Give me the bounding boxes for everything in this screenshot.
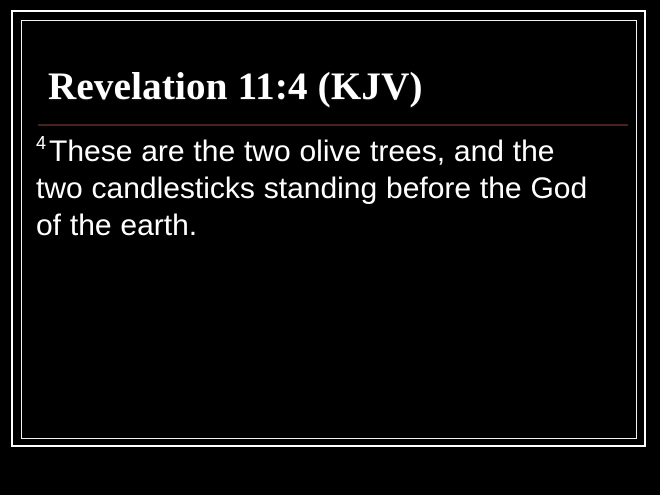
- verse-paragraph: 4These are the two olive trees, and the …: [36, 133, 608, 244]
- slide-content-area: Revelation 11:4 (KJV) 4These are the two…: [22, 21, 636, 438]
- page-title: Revelation 11:4 (KJV): [48, 64, 423, 110]
- title-divider-rule: [38, 124, 628, 126]
- verse-body-text: These are the two olive trees, and the t…: [36, 135, 587, 242]
- presentation-slide: Revelation 11:4 (KJV) 4These are the two…: [0, 0, 660, 495]
- slide-body-block: 4These are the two olive trees, and the …: [36, 133, 608, 244]
- verse-number: 4: [36, 133, 49, 153]
